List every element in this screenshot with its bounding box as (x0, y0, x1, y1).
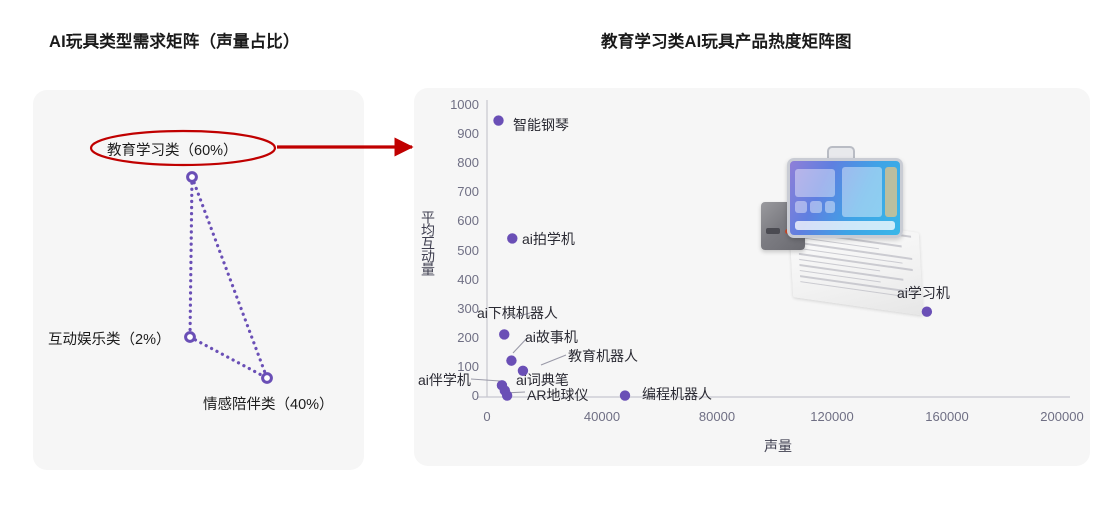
y-tick-label: 200 (431, 330, 479, 345)
y-tick-label: 500 (431, 243, 479, 258)
x-tick-label: 0 (447, 409, 527, 424)
x-tick-label: 200000 (1022, 409, 1102, 424)
y-tick-label: 0 (431, 388, 479, 403)
y-tick-label: 900 (431, 126, 479, 141)
data-point-label: ai故事机 (525, 327, 578, 347)
label-leader-line (541, 355, 566, 365)
data-point-label: ai拍学机 (522, 229, 575, 249)
x-tick-label: 80000 (677, 409, 757, 424)
data-point-label: ai伴学机 (418, 370, 471, 390)
data-point-marker[interactable] (502, 390, 512, 400)
data-point-marker[interactable] (620, 390, 630, 400)
label-leader-line (471, 379, 500, 381)
data-point-label: 教育机器人 (568, 346, 638, 366)
data-point-label: ai学习机 (897, 283, 950, 303)
x-tick-label: 40000 (562, 409, 642, 424)
x-tick-label: 120000 (792, 409, 872, 424)
data-point-marker[interactable] (507, 233, 517, 243)
y-tick-label: 700 (431, 184, 479, 199)
y-tick-label: 300 (431, 301, 479, 316)
y-tick-label: 600 (431, 213, 479, 228)
data-point-label: ai下棋机器人 (477, 303, 558, 323)
data-point-label: 智能钢琴 (513, 115, 569, 135)
screenshot-root: AI玩具类型需求矩阵（声量占比） 教育学习类（60%）互动娱乐类（2%）情感陪伴… (0, 0, 1106, 505)
data-point-marker[interactable] (506, 355, 516, 365)
y-tick-label: 400 (431, 272, 479, 287)
scatter-plot (0, 0, 1106, 505)
data-point-marker[interactable] (922, 307, 932, 317)
data-point-label: 编程机器人 (642, 384, 712, 404)
y-tick-label: 800 (431, 155, 479, 170)
data-point-marker[interactable] (499, 329, 509, 339)
y-tick-label: 1000 (431, 97, 479, 112)
x-tick-label: 160000 (907, 409, 987, 424)
data-point-label: AR地球仪 (527, 385, 588, 405)
data-point-marker[interactable] (493, 115, 503, 125)
